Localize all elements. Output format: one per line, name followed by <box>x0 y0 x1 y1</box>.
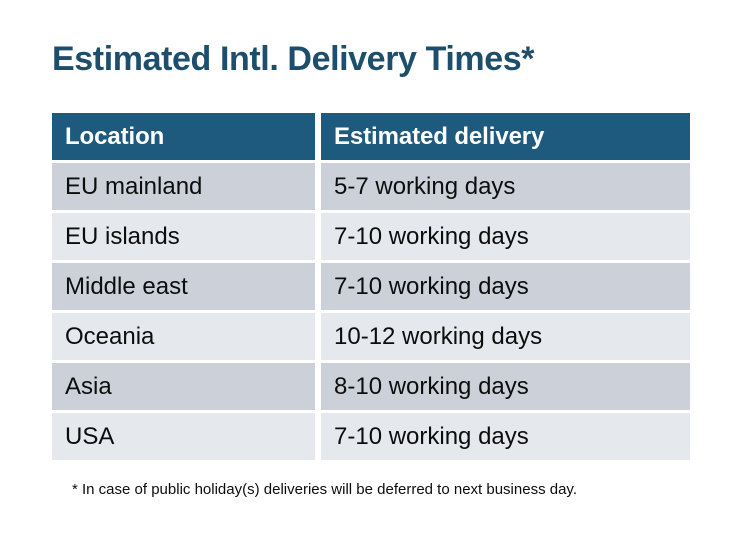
footnote-text: * In case of public holiday(s) deliverie… <box>72 479 577 501</box>
cell-delivery: 7-10 working days <box>321 413 690 460</box>
table-row: USA 7-10 working days <box>52 413 690 460</box>
table-row: EU islands 7-10 working days <box>52 213 690 260</box>
page-title: Estimated Intl. Delivery Times* <box>52 38 534 80</box>
table-row: Asia 8-10 working days <box>52 363 690 410</box>
delivery-times-table: Location Estimated delivery EU mainland … <box>52 113 690 463</box>
cell-delivery: 10-12 working days <box>321 313 690 360</box>
cell-location: EU mainland <box>52 163 315 210</box>
cell-location: EU islands <box>52 213 315 260</box>
cell-delivery: 5-7 working days <box>321 163 690 210</box>
cell-location: Asia <box>52 363 315 410</box>
cell-delivery: 8-10 working days <box>321 363 690 410</box>
table-row: Middle east 7-10 working days <box>52 263 690 310</box>
table-row: EU mainland 5-7 working days <box>52 163 690 210</box>
cell-location: Middle east <box>52 263 315 310</box>
cell-location: Oceania <box>52 313 315 360</box>
delivery-times-page: Estimated Intl. Delivery Times* Location… <box>0 0 745 536</box>
column-header-location: Location <box>52 113 315 160</box>
cell-delivery: 7-10 working days <box>321 213 690 260</box>
cell-delivery: 7-10 working days <box>321 263 690 310</box>
table-header-row: Location Estimated delivery <box>52 113 690 160</box>
table-row: Oceania 10-12 working days <box>52 313 690 360</box>
column-header-estimated-delivery: Estimated delivery <box>321 113 690 160</box>
cell-location: USA <box>52 413 315 460</box>
